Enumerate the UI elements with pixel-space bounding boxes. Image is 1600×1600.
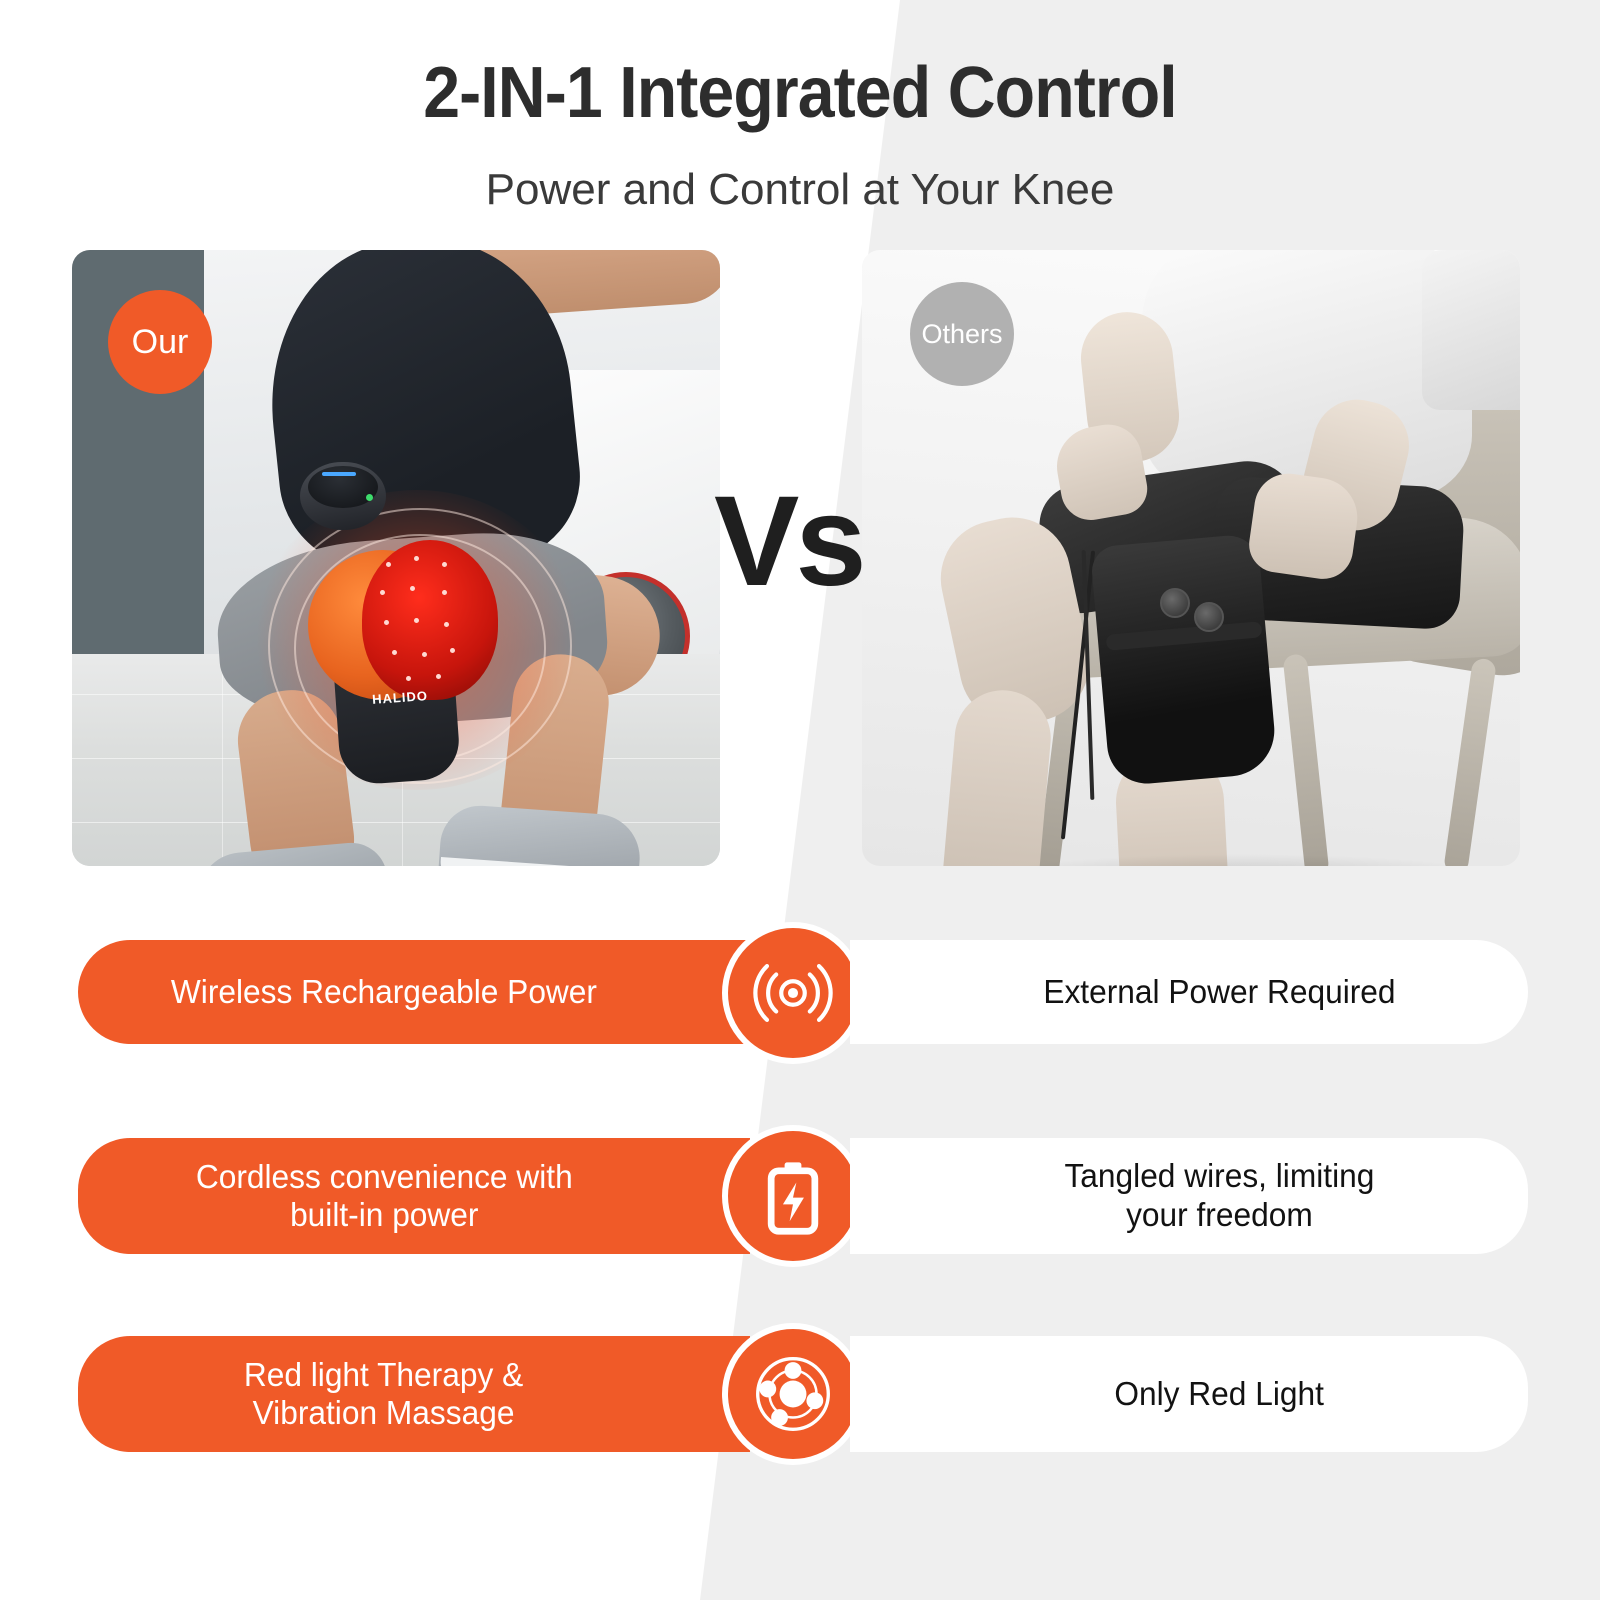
badge-our: Our (108, 290, 212, 394)
vs-label: Vs (714, 478, 863, 606)
floor-shadow (982, 854, 1502, 866)
infographic-canvas: 2-IN-1 Integrated Control Power and Cont… (0, 0, 1600, 1600)
red-light-panel (362, 540, 498, 700)
battery-charging-icon (751, 1154, 835, 1238)
others-feature-pill-1: External Power Required (850, 940, 1528, 1044)
badge-others: Others (910, 282, 1014, 386)
competitor-brace-button-1 (1160, 588, 1190, 618)
our-feature-label-2: Cordless convenience with built-in power (196, 1158, 573, 1234)
our-feature-pill-2: Cordless convenience with built-in power (78, 1138, 750, 1254)
our-feature-pill-3: Red light Therapy & Vibration Massage (78, 1336, 750, 1452)
others-feature-label-1: External Power Required (1043, 973, 1395, 1012)
feature-icon-2 (722, 1125, 864, 1267)
others-feature-label-2: Tangled wires, limiting your freedom (1064, 1157, 1374, 1235)
page-title: 2-IN-1 Integrated Control (64, 56, 1536, 132)
wireless-signal-icon (751, 951, 835, 1035)
control-module-indicator (322, 472, 356, 476)
others-feature-pill-2: Tangled wires, limiting your freedom (850, 1138, 1528, 1254)
our-feature-label-3: Red light Therapy & Vibration Massage (244, 1356, 523, 1432)
competitor-brace-button-2 (1194, 602, 1224, 632)
feature-icon-3 (722, 1323, 864, 1465)
our-feature-pill-1: Wireless Rechargeable Power (78, 940, 750, 1044)
our-feature-label-1: Wireless Rechargeable Power (171, 973, 597, 1011)
person-shirt-sleeve (1422, 250, 1520, 410)
competitor-knee-brace (1090, 533, 1278, 787)
page-subtitle: Power and Control at Your Knee (0, 166, 1600, 214)
others-feature-pill-3: Only Red Light (850, 1336, 1528, 1452)
control-module-power-led (366, 494, 373, 501)
others-feature-label-3: Only Red Light (1114, 1375, 1324, 1414)
feature-icon-1 (722, 922, 864, 1064)
vibration-massage-icon (751, 1352, 835, 1436)
